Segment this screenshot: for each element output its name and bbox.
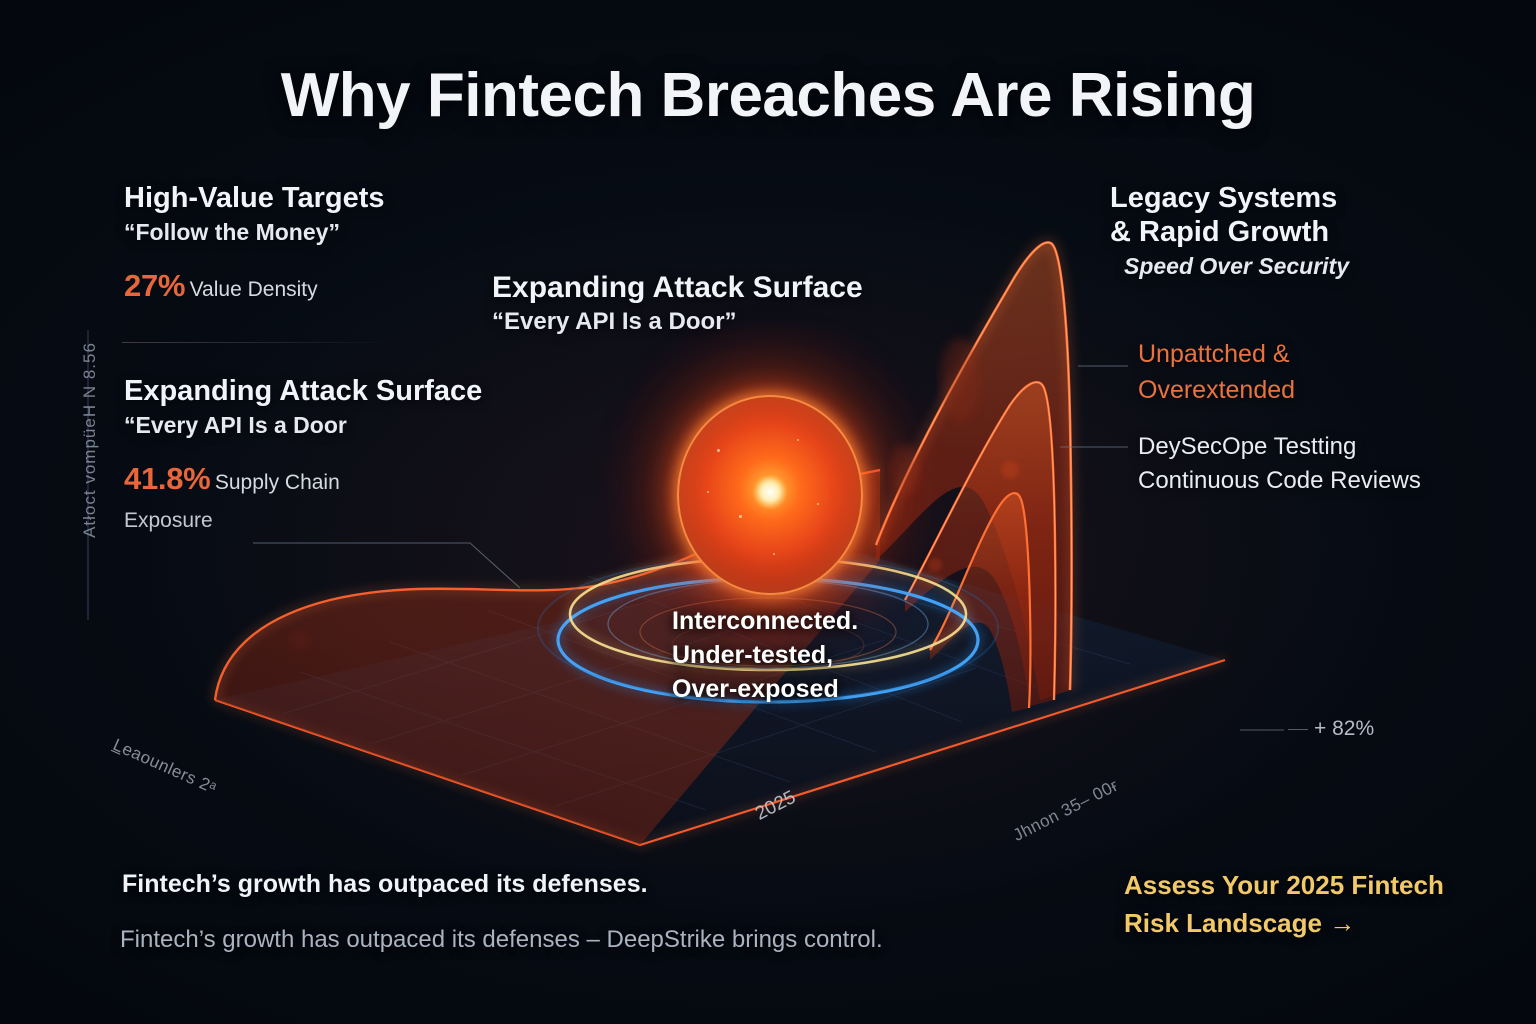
delta-value: + 82%	[1314, 717, 1374, 740]
callout2-line-1: DeySecOpe Testting	[1138, 430, 1421, 464]
y-axis-label: Atłoct vompüeH N 8.56	[80, 310, 100, 570]
delta-dash-icon	[1288, 729, 1308, 730]
block1-stat-value: 27%	[124, 268, 185, 303]
core-label: Interconnected. Under-tested, Over-expos…	[672, 604, 1002, 706]
block-center-heading: Expanding Attack Surface “Every API Is a…	[492, 270, 863, 336]
divider-1	[122, 342, 394, 343]
block-high-value-targets: High-Value Targets “Follow the Money” 27…	[124, 182, 385, 304]
core-label-line-1: Interconnected.	[672, 604, 1002, 638]
page-title: Why Fintech Breaches Are Rising	[0, 60, 1536, 131]
delta-label: + 82%	[1288, 717, 1374, 741]
callout2-line-2: Continuous Code Reviews	[1138, 464, 1421, 498]
sphere-core-light	[753, 475, 787, 509]
cta-link[interactable]: Assess Your 2025 Fintech Risk Landscage …	[1124, 866, 1504, 943]
right-heading-line-2: & Rapid Growth	[1110, 216, 1349, 250]
core-sphere	[677, 395, 863, 595]
block2-stat-value: 41.8%	[124, 461, 210, 496]
block2-heading: Expanding Attack Surface	[124, 375, 482, 409]
core-label-line-2: Under-tested,	[672, 638, 1002, 672]
callout-unpattched: Unpattched & Overextended	[1138, 336, 1295, 409]
infographic-canvas: Why Fintech Breaches Are Rising High-Val…	[0, 0, 1536, 1024]
right-subheading: Speed Over Security	[1124, 253, 1349, 280]
block1-stat: 27% Value Density	[124, 268, 385, 304]
footer-subline: Fintech’s growth has outpaced its defens…	[120, 926, 883, 954]
block2-stat-label-2: Exposure	[124, 509, 482, 533]
callout1-line-1: Unpattched &	[1138, 336, 1295, 372]
block-expanding-attack-surface-left: Expanding Attack Surface “Every API Is a…	[124, 375, 482, 533]
center-heading: Expanding Attack Surface	[492, 270, 863, 305]
cta-line-2: Risk Landscage →	[1124, 904, 1504, 942]
block1-heading: High-Value Targets	[124, 182, 385, 216]
leader-line-supply-chain	[253, 543, 520, 588]
callout1-line-2: Overextended	[1138, 372, 1295, 408]
center-subheading: “Every API Is a Door”	[492, 308, 863, 336]
block2-subheading: “Every API Is a Door	[124, 412, 482, 439]
block1-stat-label: Value Density	[190, 278, 318, 301]
core-label-line-3: Over-exposed	[672, 672, 1002, 706]
block2-stat: 41.8% Supply Chain Exposure	[124, 461, 482, 533]
block2-stat-label: Supply Chain	[215, 471, 340, 494]
block1-subheading: “Follow the Money”	[124, 219, 385, 246]
block-legacy-systems: Legacy Systems & Rapid Growth Speed Over…	[1110, 182, 1349, 280]
footer-headline: Fintech’s growth has outpaced its defens…	[122, 870, 648, 899]
right-heading-line-1: Legacy Systems	[1110, 182, 1349, 216]
callout-devsecops: DeySecOpe Testting Continuous Code Revie…	[1138, 430, 1421, 497]
cta-line-1: Assess Your 2025 Fintech	[1124, 866, 1504, 904]
